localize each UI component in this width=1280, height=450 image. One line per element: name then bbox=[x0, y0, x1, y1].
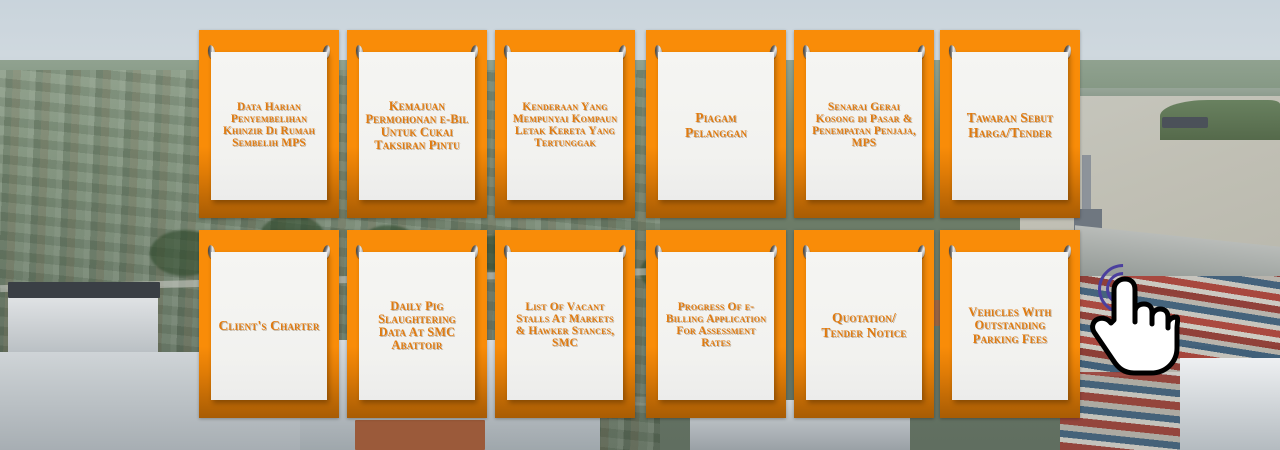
service-tile-6[interactable]: Tawaran Sebut Harga/Tender bbox=[940, 30, 1080, 218]
tile-card: Progress Of e-Billing Application For As… bbox=[658, 252, 774, 400]
tile-label: Kemajuan Permohonan e-Bil Untuk Cukai Ta… bbox=[364, 100, 470, 152]
tile-label: Progress Of e-Billing Application For As… bbox=[663, 302, 769, 350]
tile-card: Tawaran Sebut Harga/Tender bbox=[952, 52, 1068, 200]
tile-card: Kemajuan Permohonan e-Bil Untuk Cukai Ta… bbox=[359, 52, 475, 200]
tile-card: Client's Charter bbox=[211, 252, 327, 400]
service-tile-10[interactable]: Progress Of e-Billing Application For As… bbox=[646, 230, 786, 418]
barge bbox=[1162, 117, 1208, 128]
tile-card: Piagam Pelanggan bbox=[658, 52, 774, 200]
tile-label: Daily Pig Slaughtering Data At SMC Abatt… bbox=[364, 300, 470, 352]
tile-label: Client's Charter bbox=[218, 319, 319, 334]
tile-label: Kenderaan Yang Mempunyai Kompaun Letak K… bbox=[512, 102, 618, 150]
service-tile-7[interactable]: Client's Charter bbox=[199, 230, 339, 418]
tile-label: Senarai Gerai Kosong di Pasar & Penempat… bbox=[811, 102, 917, 150]
roof bbox=[355, 420, 485, 450]
tile-card: Senarai Gerai Kosong di Pasar & Penempat… bbox=[806, 52, 922, 200]
roof bbox=[8, 282, 160, 298]
tile-label: Vehicles With Outstanding Parking Fees bbox=[957, 306, 1063, 345]
service-tile-2[interactable]: Kemajuan Permohonan e-Bil Untuk Cukai Ta… bbox=[347, 30, 487, 218]
service-tile-1[interactable]: Data Harian Penyembelihan Khinzir Di Rum… bbox=[199, 30, 339, 218]
tile-card: Daily Pig Slaughtering Data At SMC Abatt… bbox=[359, 252, 475, 400]
tile-label: Piagam Pelanggan bbox=[663, 111, 769, 140]
tile-card: Kenderaan Yang Mempunyai Kompaun Letak K… bbox=[507, 52, 623, 200]
service-tile-5[interactable]: Senarai Gerai Kosong di Pasar & Penempat… bbox=[794, 30, 934, 218]
tile-card: Data Harian Penyembelihan Khinzir Di Rum… bbox=[211, 52, 327, 200]
service-tile-9[interactable]: List Of Vacant Stalls At Markets & Hawke… bbox=[495, 230, 635, 418]
tile-label: List Of Vacant Stalls At Markets & Hawke… bbox=[512, 302, 618, 350]
tile-label: Tawaran Sebut Harga/Tender bbox=[957, 111, 1063, 140]
service-tile-12[interactable]: Vehicles With Outstanding Parking Fees bbox=[940, 230, 1080, 418]
service-tile-4[interactable]: Piagam Pelanggan bbox=[646, 30, 786, 218]
service-tile-11[interactable]: Quotation/ Tender Notice bbox=[794, 230, 934, 418]
screen: Data Harian Penyembelihan Khinzir Di Rum… bbox=[0, 0, 1280, 450]
tile-card: Quotation/ Tender Notice bbox=[806, 252, 922, 400]
tile-card: Vehicles With Outstanding Parking Fees bbox=[952, 252, 1068, 400]
tile-label: Data Harian Penyembelihan Khinzir Di Rum… bbox=[216, 102, 322, 150]
service-tile-8[interactable]: Daily Pig Slaughtering Data At SMC Abatt… bbox=[347, 230, 487, 418]
tile-label: Quotation/ Tender Notice bbox=[811, 311, 917, 340]
service-tile-3[interactable]: Kenderaan Yang Mempunyai Kompaun Letak K… bbox=[495, 30, 635, 218]
tile-card: List Of Vacant Stalls At Markets & Hawke… bbox=[507, 252, 623, 400]
service-tile-grid: Data Harian Penyembelihan Khinzir Di Rum… bbox=[199, 30, 1080, 418]
building bbox=[1180, 358, 1280, 450]
